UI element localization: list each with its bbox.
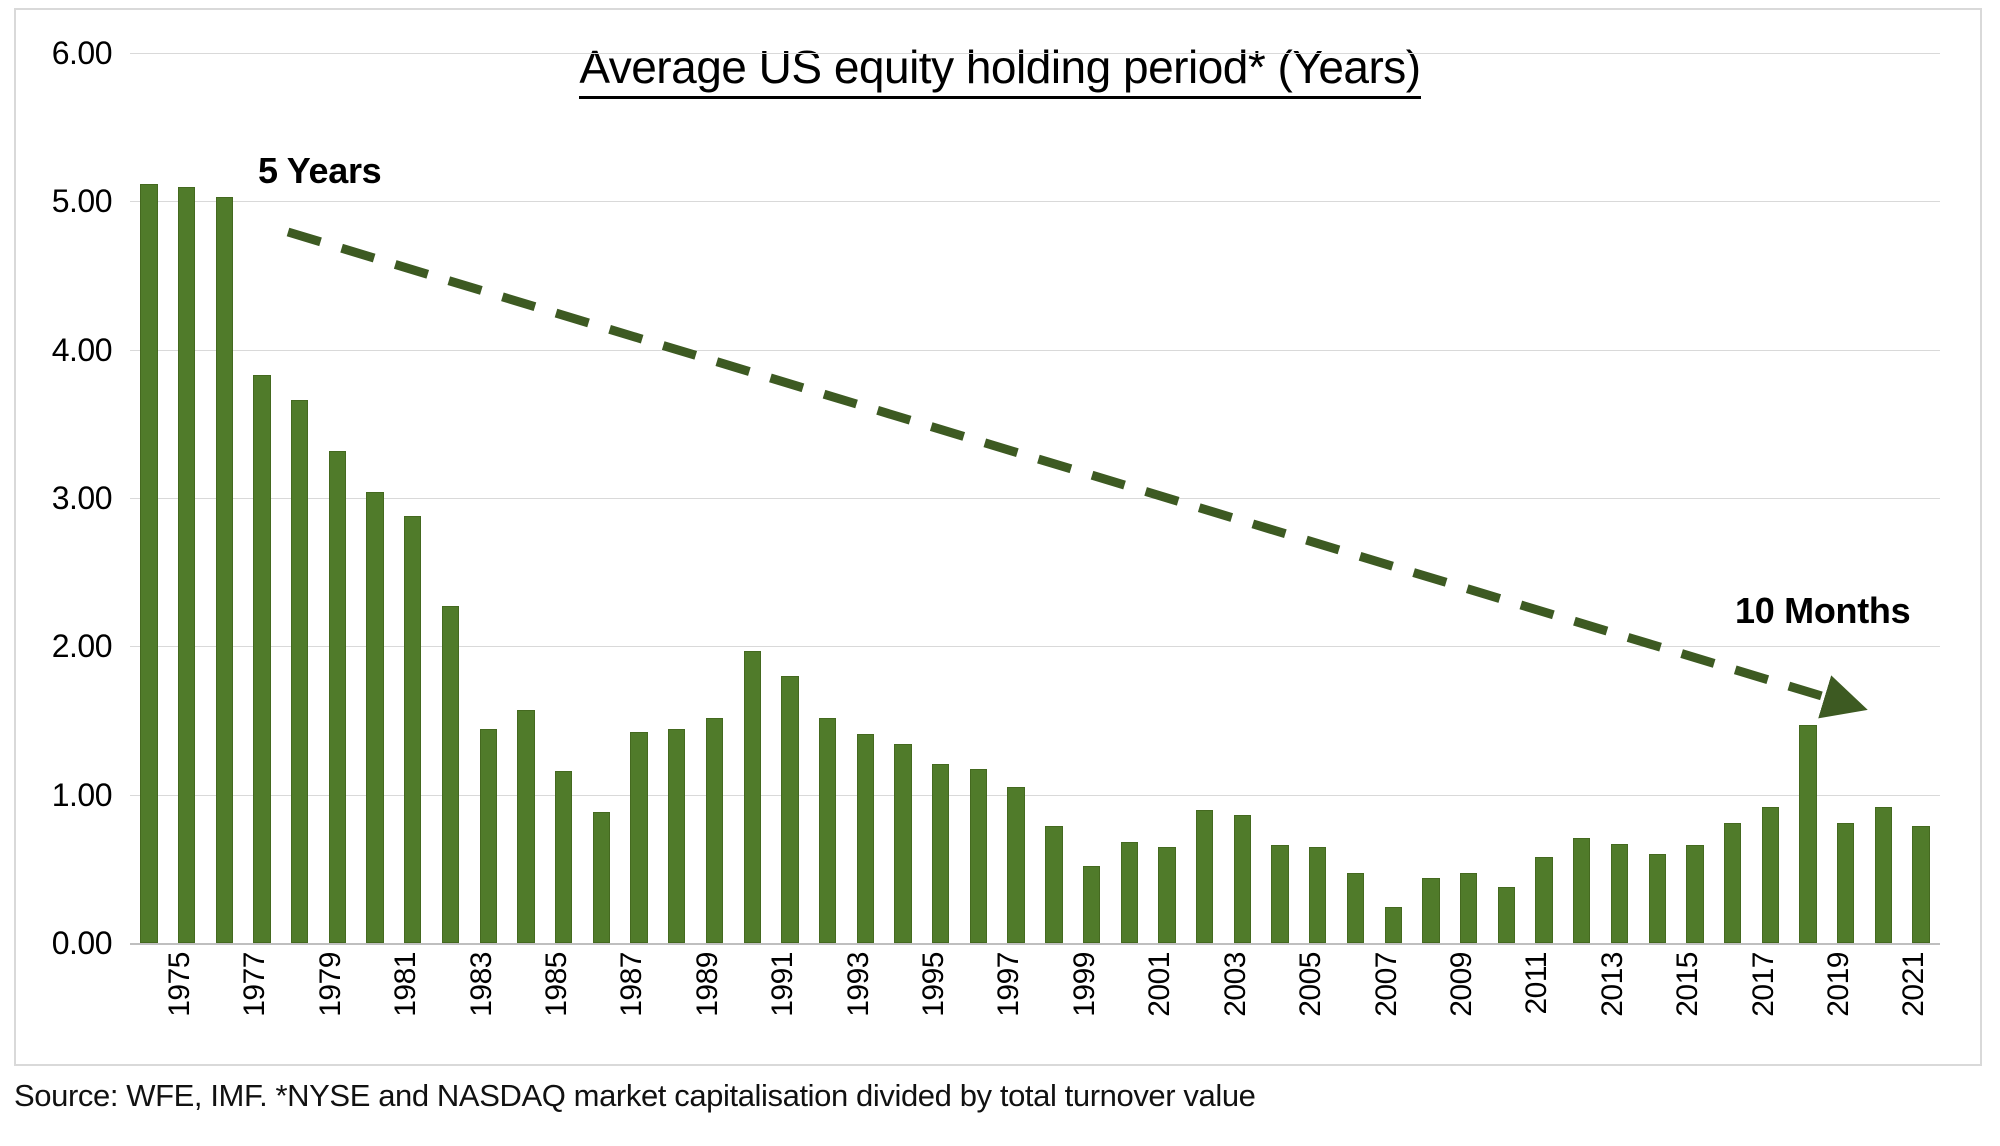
bar [706, 718, 723, 943]
bar [1912, 826, 1929, 943]
bar [1460, 873, 1477, 943]
x-axis-tick-label: 1987 [615, 952, 649, 1017]
x-axis-tick-label: 2007 [1370, 952, 1404, 1017]
bar [1347, 873, 1364, 943]
x-axis-tick-label: 1997 [992, 952, 1026, 1017]
bar [1309, 847, 1326, 943]
x-axis-tick-label: 1995 [917, 952, 951, 1017]
bar [480, 729, 497, 943]
gridline [130, 943, 1940, 945]
y-axis-tick-label: 4.00 [8, 334, 112, 366]
bar [404, 516, 421, 943]
bar [1837, 823, 1854, 943]
bar [1158, 847, 1175, 943]
bar [1385, 907, 1402, 943]
x-axis-tick-label: 2011 [1520, 952, 1554, 1015]
x-axis-tick-label: 2005 [1294, 952, 1328, 1017]
y-axis-tick-label: 0.00 [8, 927, 112, 959]
bar [1271, 845, 1288, 943]
x-axis-tick-label: 1983 [465, 952, 499, 1017]
bar [781, 676, 798, 943]
chart-page: Average US equity holding period* (Years… [0, 0, 2000, 1146]
x-axis-tick-label: 1993 [842, 952, 876, 1017]
bar [1498, 887, 1515, 943]
bar [442, 606, 459, 943]
x-axis-tick-label: 1975 [163, 952, 197, 1017]
bar [857, 734, 874, 943]
bar [1611, 844, 1628, 943]
bar [819, 718, 836, 943]
y-axis-tick-label: 5.00 [8, 185, 112, 217]
annotation-end-label: 10 Months [1735, 590, 1910, 632]
bar [1799, 725, 1816, 943]
bar [1573, 838, 1590, 943]
x-axis-labels: 1975197719791981198319851987198919911993… [130, 952, 1940, 1072]
bar [970, 769, 987, 943]
bar [1234, 815, 1251, 943]
bar [291, 400, 308, 943]
bar [1045, 826, 1062, 943]
bar [555, 771, 572, 943]
x-axis-tick-label: 2009 [1445, 952, 1479, 1017]
x-axis-tick-label: 2003 [1219, 952, 1253, 1017]
x-axis-tick-label: 1979 [314, 952, 348, 1017]
bar [1007, 787, 1024, 943]
bar [744, 651, 761, 943]
bar [1724, 823, 1741, 943]
bar [366, 492, 383, 943]
bar [178, 187, 195, 944]
bar [630, 732, 647, 943]
x-axis-tick-label: 2015 [1671, 952, 1705, 1017]
bar [1686, 845, 1703, 943]
plot-area [130, 53, 1940, 943]
bar [593, 812, 610, 943]
x-axis-tick-label: 2019 [1822, 952, 1856, 1017]
bar [1762, 807, 1779, 943]
bar [140, 184, 157, 943]
bar [329, 451, 346, 943]
y-axis-tick-label: 6.00 [8, 37, 112, 69]
x-axis-tick-label: 1985 [540, 952, 574, 1017]
x-axis-tick-label: 1981 [389, 952, 423, 1017]
bar [253, 375, 270, 943]
bar [1535, 857, 1552, 943]
bar [517, 710, 534, 943]
source-note: Source: WFE, IMF. *NYSE and NASDAQ marke… [14, 1078, 1256, 1114]
x-axis-tick-label: 2001 [1143, 952, 1177, 1017]
bar [668, 729, 685, 943]
annotation-start-label: 5 Years [258, 150, 381, 192]
bar [1422, 878, 1439, 943]
x-axis-tick-label: 1991 [766, 952, 800, 1017]
x-axis-tick-label: 1977 [238, 952, 272, 1017]
bar [1875, 807, 1892, 943]
bar [932, 764, 949, 943]
bar [216, 197, 233, 943]
bar [894, 744, 911, 943]
x-axis-tick-label: 1999 [1068, 952, 1102, 1017]
bar-series [130, 53, 1940, 943]
x-axis-tick-label: 2013 [1596, 952, 1630, 1017]
bar [1121, 842, 1138, 943]
y-axis-tick-label: 3.00 [8, 482, 112, 514]
bar [1196, 810, 1213, 944]
x-axis-tick-label: 2021 [1897, 952, 1931, 1017]
x-axis-tick-label: 1989 [691, 952, 725, 1017]
y-axis-tick-label: 1.00 [8, 779, 112, 811]
bar [1083, 866, 1100, 943]
bar [1649, 854, 1666, 943]
x-axis-tick-label: 2017 [1747, 952, 1781, 1017]
y-axis-tick-label: 2.00 [8, 630, 112, 662]
